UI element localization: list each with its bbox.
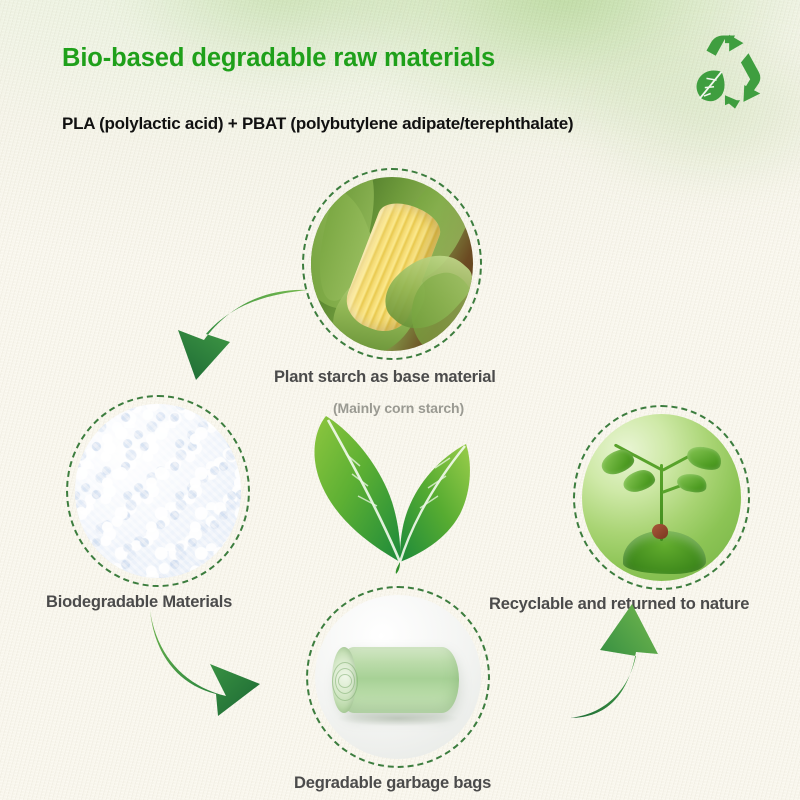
garbage-bags-disc (306, 586, 490, 768)
node-degradable-garbage-bags: Degradable garbage bags (306, 586, 490, 768)
garbage-bag-roll-photo (315, 595, 481, 759)
arrow-body (178, 290, 308, 380)
seedling-photo (582, 414, 741, 581)
recycle-leaf-icon (688, 28, 772, 112)
caption-degradable-garbage-bags: Degradable garbage bags (294, 774, 491, 793)
arrow-starch-to-materials (160, 268, 310, 393)
arrow-body (570, 604, 658, 718)
arrow-body (150, 610, 260, 716)
seedling-seed (652, 524, 668, 539)
pellets-grain (75, 404, 241, 578)
plant-starch-disc (302, 168, 482, 360)
arrow-materials-to-bags (148, 598, 298, 723)
leaf-left (314, 416, 400, 562)
page-subtitle: PLA (polylactic acid) + PBAT (polybutyle… (62, 114, 573, 134)
node-recyclable-returned-to-nature: Recyclable and returned to nature (573, 405, 750, 590)
infographic-poster: Bio-based degradable raw materials PLA (… (0, 0, 800, 800)
leaf-right (400, 444, 470, 562)
node-biodegradable-materials: Biodegradable Materials (66, 395, 250, 587)
corn-photo (311, 177, 473, 351)
arrow-bags-to-nature (570, 596, 720, 726)
leaf-stem (396, 562, 400, 574)
plastic-pellets-photo (75, 404, 241, 578)
two-leaves-icon (300, 410, 500, 575)
biodegradable-materials-disc (66, 395, 250, 587)
node-plant-starch: Plant starch as base material (Mainly co… (302, 168, 482, 360)
page-title: Bio-based degradable raw materials (62, 44, 495, 73)
recyclable-disc (573, 405, 750, 590)
